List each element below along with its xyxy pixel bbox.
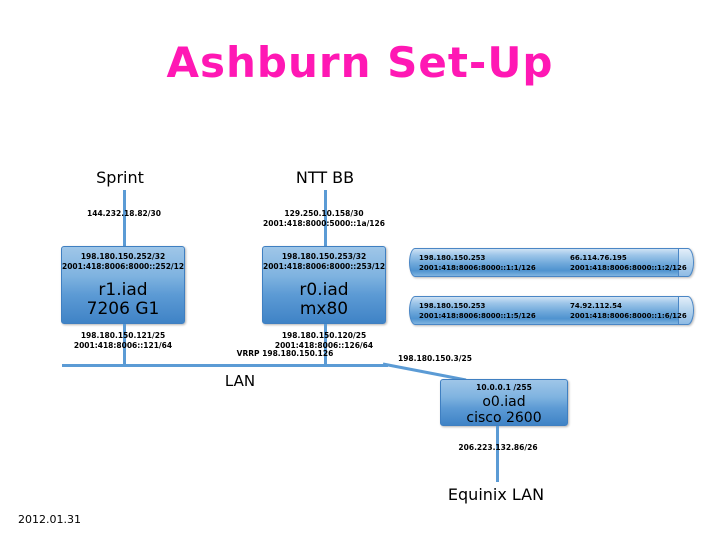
- node-r1-iad[interactable]: 198.180.150.252/32 2001:418:8006:8000::2…: [61, 246, 185, 324]
- connector-lan-to-o0: [383, 364, 466, 380]
- link-label-o0-downlink: 206.223.132.86/26: [438, 443, 558, 453]
- peering-pipe-2-local-v4: 198.180.150.253: [419, 302, 485, 312]
- uplink-label-ntt-v6: 2001:418:8000:5000::1a/126: [254, 219, 394, 229]
- node-r1-loopback-v6: 2001:418:8006:8000::252/128: [62, 262, 184, 272]
- node-o0-address: 10.0.0.1 /255: [441, 380, 567, 393]
- peering-pipe-2-remote-v4: 74.92.112.54: [570, 302, 622, 312]
- peering-pipe-1[interactable]: 198.180.150.253 2001:418:8006:8000::1:1/…: [409, 248, 694, 277]
- link-label-o0-uplink: 198.180.150.3/25: [398, 354, 518, 364]
- node-o0-model: cisco 2600: [441, 410, 567, 426]
- equinix-lan-caption: Equinix LAN: [416, 485, 576, 504]
- node-o0-iad[interactable]: 10.0.0.1 /255 o0.iad cisco 2600: [440, 379, 568, 426]
- lan-label-r0-v4: 198.180.150.120/25: [264, 331, 384, 341]
- provider-label-ntt: NTT BB: [265, 168, 385, 187]
- node-r0-loopback-v6: 2001:418:8006:8000::253/128: [263, 262, 385, 272]
- page-title: Ashburn Set-Up: [0, 38, 720, 87]
- lan-label-r1-v4: 198.180.150.121/25: [63, 331, 183, 341]
- node-r0-model: mx80: [263, 299, 385, 319]
- downlink-line-o0: [496, 426, 499, 482]
- peering-pipe-2-local-v6: 2001:418:8006:8000::1:5/126: [419, 312, 536, 322]
- node-r0-loopback-v4: 198.180.150.253/32: [263, 247, 385, 262]
- uplink-label-ntt-v4: 129.250.10.158/30: [254, 209, 394, 219]
- peering-pipe-2[interactable]: 198.180.150.253 2001:418:8006:8000::1:5/…: [409, 296, 694, 325]
- node-r1-loopback-v4: 198.180.150.252/32: [62, 247, 184, 262]
- uplink-label-sprint: 144.232.18.82/30: [64, 209, 184, 219]
- lan-caption: LAN: [160, 372, 320, 390]
- vrrp-label: VRRP 198.180.150.126: [125, 349, 445, 358]
- date-stamp: 2012.01.31: [18, 513, 81, 526]
- peering-pipe-1-local-v4: 198.180.150.253: [419, 254, 485, 264]
- slide-canvas: Ashburn Set-Up Sprint NTT BB 144.232.18.…: [0, 0, 720, 540]
- provider-label-sprint: Sprint: [60, 168, 180, 187]
- node-r0-name: r0.iad: [263, 280, 385, 300]
- node-r1-name: r1.iad: [62, 280, 184, 300]
- node-r1-model: 7206 G1: [62, 299, 184, 319]
- node-o0-name: o0.iad: [441, 394, 567, 410]
- lan-bus-bar: [62, 364, 388, 367]
- peering-pipe-2-remote-v6: 2001:418:8006:8000::1:6/126: [570, 312, 687, 322]
- node-r0-iad[interactable]: 198.180.150.253/32 2001:418:8006:8000::2…: [262, 246, 386, 324]
- peering-pipe-1-remote-v4: 66.114.76.195: [570, 254, 627, 264]
- peering-pipe-1-remote-v6: 2001:418:8006:8000::1:2/126: [570, 264, 687, 274]
- peering-pipe-1-local-v6: 2001:418:8006:8000::1:1/126: [419, 264, 536, 274]
